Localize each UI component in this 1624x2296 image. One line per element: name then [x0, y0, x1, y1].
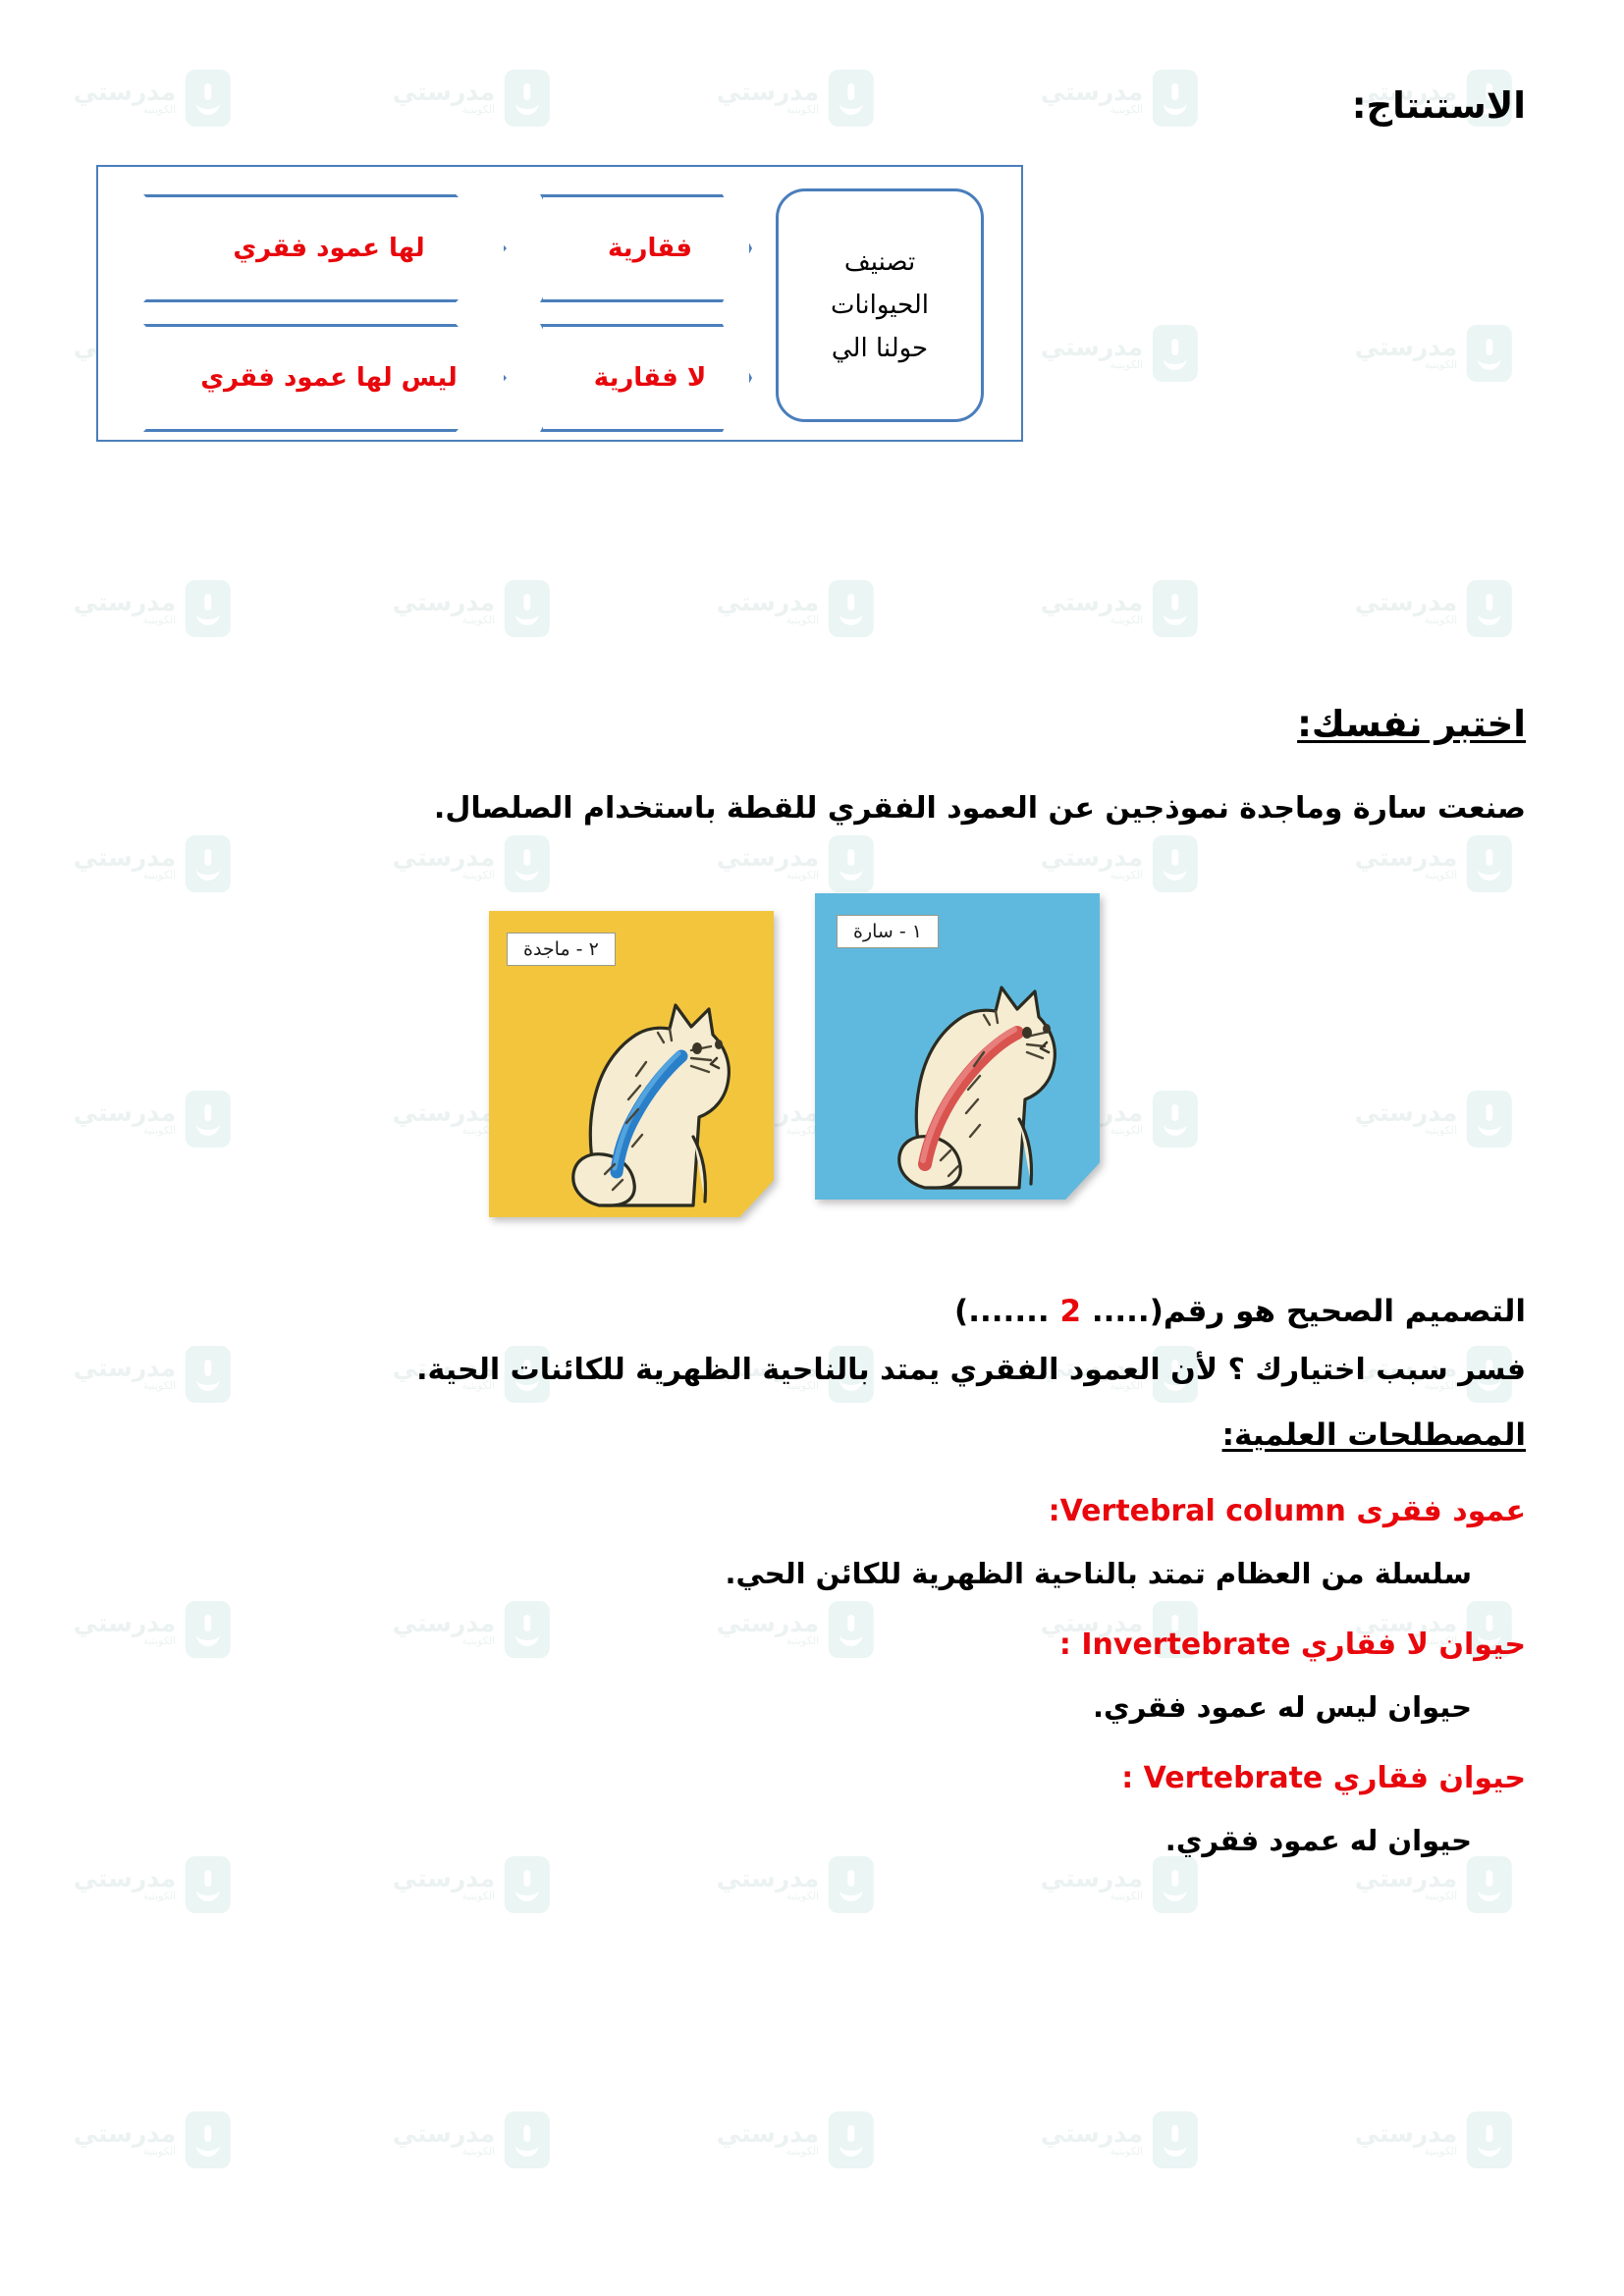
watermark-logo-icon: [1153, 580, 1198, 637]
watermark-text: مدرستيالكويتية: [1355, 845, 1457, 882]
watermark-text: مدرستيالكويتية: [74, 1866, 176, 1903]
watermark-logo-icon: [505, 1856, 550, 1913]
start-node-line-3: حولنا الي: [832, 334, 928, 363]
watermark-tile: مدرستيالكويتية: [717, 580, 874, 637]
watermark-logo-icon: [829, 1856, 874, 1913]
watermark-logo-icon: [505, 835, 550, 892]
watermark-logo-icon: [1153, 2111, 1198, 2168]
watermark-logo-icon: [505, 580, 550, 637]
watermark-logo-icon: [1467, 580, 1512, 637]
watermark-tile: مدرستيالكويتية: [393, 1856, 550, 1913]
test-yourself-question: صنعت سارة وماجدة نموذجين عن العمود الفقر…: [102, 791, 1526, 826]
worksheet-page: مدرستيالكويتيةمدرستيالكويتيةمدرستيالكويت…: [0, 0, 1624, 2296]
start-node-line-2: الحيوانات: [831, 291, 929, 320]
watermark-tile: مدرستيالكويتية: [393, 70, 550, 127]
watermark-tile: مدرستيالكويتية: [74, 1856, 231, 1913]
cat-card-sara: ١ - سارة: [815, 893, 1100, 1200]
watermark-logo-icon: [505, 2111, 550, 2168]
terminology-heading: المصطلحات العلمية:: [917, 1417, 1526, 1453]
watermark-text: مدرستيالكويتية: [717, 590, 819, 627]
cat-card-sara-label: ١ - سارة: [837, 915, 939, 948]
branch-category-invertebrate: لا فقارية: [540, 324, 752, 432]
branch-category-vertebrate: فقارية: [540, 194, 752, 302]
watermark-tile: مدرستيالكويتية: [1041, 1856, 1198, 1913]
watermark-text: مدرستيالكويتية: [1041, 845, 1143, 882]
watermark-tile: مدرستيالكويتية: [74, 70, 231, 127]
watermark-tile: مدرستيالكويتية: [393, 580, 550, 637]
watermark-text: مدرستيالكويتية: [1041, 590, 1143, 627]
watermark-logo-icon: [1467, 1856, 1512, 1913]
diagram-start-node: تصنيف الحيوانات حولنا الي: [776, 188, 984, 422]
watermark-tile: مدرستيالكويتية: [1041, 325, 1198, 382]
watermark-tile: مدرستيالكويتية: [393, 2111, 550, 2168]
watermark-text: مدرستيالكويتية: [1355, 1866, 1457, 1903]
watermark-tile: مدرستيالكويتية: [74, 1091, 231, 1148]
watermark-text: مدرستيالكويتية: [393, 1866, 495, 1903]
watermark-text: مدرستيالكويتية: [393, 1100, 495, 1138]
watermark-logo-icon: [186, 2111, 231, 2168]
watermark-text: مدرستيالكويتية: [1355, 335, 1457, 372]
cat-card-majida-label: ٢ - ماجدة: [507, 933, 616, 966]
term-2-title: حيوان لا فقاري Invertebrate :: [102, 1628, 1526, 1662]
watermark-logo-icon: [829, 2111, 874, 2168]
branch-category-vertebrate-label: فقارية: [608, 234, 692, 263]
watermark-logo-icon: [1153, 325, 1198, 382]
conclusion-heading: الاستنتاج:: [1035, 84, 1526, 127]
watermark-tile: مدرستيالكويتية: [74, 2111, 231, 2168]
watermark-text: مدرستيالكويتية: [717, 1866, 819, 1903]
term-1-definition: سلسلة من العظام تمتد بالناحية الظهرية لل…: [97, 1557, 1472, 1590]
watermark-logo-icon: [505, 70, 550, 127]
answer-line: التصميم الصحيح هو رقم(..... 2 .......): [102, 1294, 1526, 1329]
watermark-tile: مدرستيالكويتية: [717, 2111, 874, 2168]
watermark-logo-icon: [186, 580, 231, 637]
watermark-tile: مدرستيالكويتية: [1355, 1091, 1512, 1148]
watermark-tile: مدرستيالكويتية: [393, 835, 550, 892]
watermark-logo-icon: [1467, 325, 1512, 382]
cat-card-majida: ٢ - ماجدة: [489, 911, 774, 1217]
watermark-text: مدرستيالكويتية: [74, 80, 176, 117]
branch-category-invertebrate-label: لا فقارية: [594, 363, 706, 393]
watermark-logo-icon: [1467, 2111, 1512, 2168]
test-yourself-heading: اختبر نفسك:: [976, 703, 1526, 745]
branch-description-vertebrate: لها عمود فقري: [143, 194, 507, 302]
watermark-logo-icon: [1467, 835, 1512, 892]
answer-line-suffix: .......): [954, 1294, 1059, 1329]
watermark-tile: مدرستيالكويتية: [717, 1856, 874, 1913]
watermark-tile: مدرستيالكويتية: [1355, 2111, 1512, 2168]
branch-description-invertebrate-label: ليس لها عمود فقري: [200, 363, 458, 393]
watermark-logo-icon: [1467, 1091, 1512, 1148]
watermark-text: مدرستيالكويتية: [393, 80, 495, 117]
explanation-line: فسر سبب اختيارك ؟ لأن العمود الفقري يمتد…: [102, 1353, 1526, 1387]
watermark-text: مدرستيالكويتية: [74, 590, 176, 627]
watermark-text: مدرستيالكويتية: [717, 80, 819, 117]
term-3-definition: حيوان له عمود فقري.: [97, 1824, 1472, 1857]
start-node-line-1: تصنيف: [844, 247, 915, 277]
watermark-text: مدرستيالكويتية: [393, 845, 495, 882]
watermark-text: مدرستيالكويتية: [717, 2121, 819, 2159]
watermark-tile: مدرستيالكويتية: [1355, 1856, 1512, 1913]
classification-diagram: تصنيف الحيوانات حولنا الي فقارية لا فقار…: [96, 165, 1023, 442]
watermark-text: مدرستيالكويتية: [1355, 590, 1457, 627]
branch-description-vertebrate-label: لها عمود فقري: [233, 234, 424, 263]
watermark-logo-icon: [186, 1856, 231, 1913]
watermark-text: مدرستيالكويتية: [717, 845, 819, 882]
watermark-tile: مدرستيالكويتية: [717, 70, 874, 127]
watermark-tile: مدرستيالكويتية: [1355, 835, 1512, 892]
watermark-logo-icon: [829, 70, 874, 127]
watermark-text: مدرستيالكويتية: [1355, 2121, 1457, 2159]
watermark-text: مدرستيالكويتية: [1041, 335, 1143, 372]
watermark-tile: مدرستيالكويتية: [74, 580, 231, 637]
watermark-logo-icon: [1153, 1091, 1198, 1148]
cat-model-cards: ٢ - ماجدة: [489, 893, 1135, 1217]
watermark-text: مدرستيالكويتية: [1041, 1866, 1143, 1903]
watermark-text: مدرستيالكويتية: [74, 2121, 176, 2159]
watermark-logo-icon: [829, 835, 874, 892]
watermark-logo-icon: [186, 835, 231, 892]
term-2-definition: حيوان ليس له عمود فقري.: [97, 1690, 1472, 1724]
answer-line-prefix: التصميم الصحيح هو رقم(.....: [1081, 1294, 1526, 1329]
watermark-text: مدرستيالكويتية: [74, 1100, 176, 1138]
answer-value: 2: [1059, 1294, 1081, 1329]
watermark-text: مدرستيالكويتية: [74, 845, 176, 882]
term-1-title: عمود فقرى Vertebral column:: [102, 1494, 1526, 1528]
watermark-logo-icon: [186, 1091, 231, 1148]
watermark-tile: مدرستيالكويتية: [1355, 580, 1512, 637]
watermark-text: مدرستيالكويتية: [1041, 2121, 1143, 2159]
watermark-text: مدرستيالكويتية: [393, 590, 495, 627]
branch-description-invertebrate: ليس لها عمود فقري: [143, 324, 507, 432]
watermark-text: مدرستيالكويتية: [393, 2121, 495, 2159]
watermark-logo-icon: [829, 580, 874, 637]
watermark-logo-icon: [186, 70, 231, 127]
term-3-title: حيوان فقاري Vertebrate :: [102, 1761, 1526, 1795]
watermark-tile: مدرستيالكويتية: [1041, 580, 1198, 637]
watermark-logo-icon: [1153, 1856, 1198, 1913]
watermark-tile: مدرستيالكويتية: [1041, 835, 1198, 892]
watermark-tile: مدرستيالكويتية: [717, 835, 874, 892]
watermark-logo-icon: [1153, 835, 1198, 892]
watermark-tile: مدرستيالكويتية: [1041, 2111, 1198, 2168]
watermark-tile: مدرستيالكويتية: [74, 835, 231, 892]
watermark-text: مدرستيالكويتية: [1355, 1100, 1457, 1138]
watermark-tile: مدرستيالكويتية: [1355, 325, 1512, 382]
